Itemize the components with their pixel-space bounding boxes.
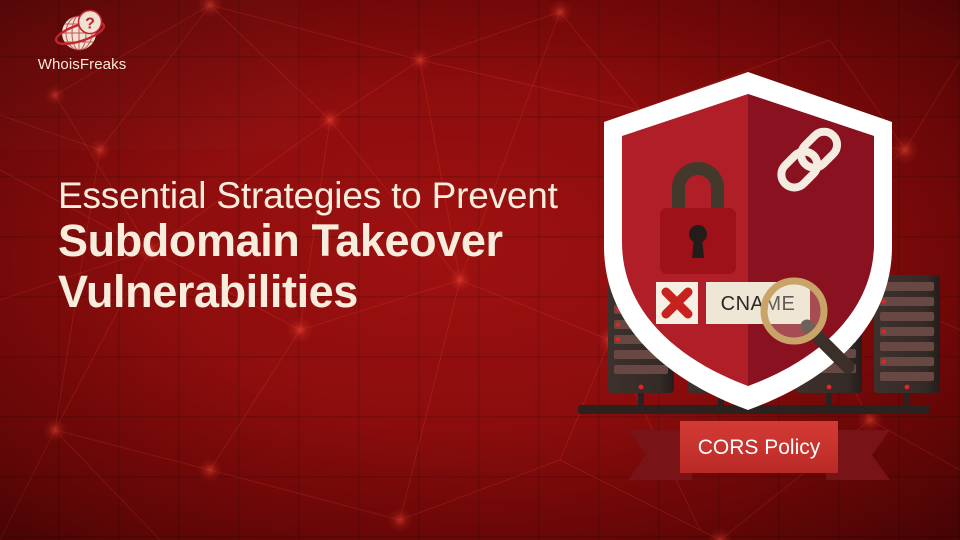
red-x-icon xyxy=(656,282,698,324)
brand-logo[interactable]: ? WhoisFreaks xyxy=(22,7,142,73)
headline-line-3: Vulnerabilities xyxy=(58,268,618,316)
server-rack-icon xyxy=(874,275,940,405)
illustration: CNAME CORS Policy xyxy=(560,60,960,480)
brand-name: WhoisFreaks xyxy=(22,56,142,73)
svg-text:?: ? xyxy=(85,16,95,33)
cors-policy-ribbon: CORS Policy xyxy=(628,421,890,480)
headline-block: Essential Strategies to Prevent Subdomai… xyxy=(58,176,618,316)
headline-line-2: Subdomain Takeover xyxy=(58,217,618,265)
ribbon-label: CORS Policy xyxy=(698,436,821,459)
globe-question-mark-icon: ? xyxy=(53,7,111,57)
hero-banner: ? WhoisFreaks Essential Strategies to Pr… xyxy=(0,0,960,540)
headline-line-1: Essential Strategies to Prevent xyxy=(58,176,618,215)
illustration-svg: CNAME CORS Policy xyxy=(560,60,960,480)
